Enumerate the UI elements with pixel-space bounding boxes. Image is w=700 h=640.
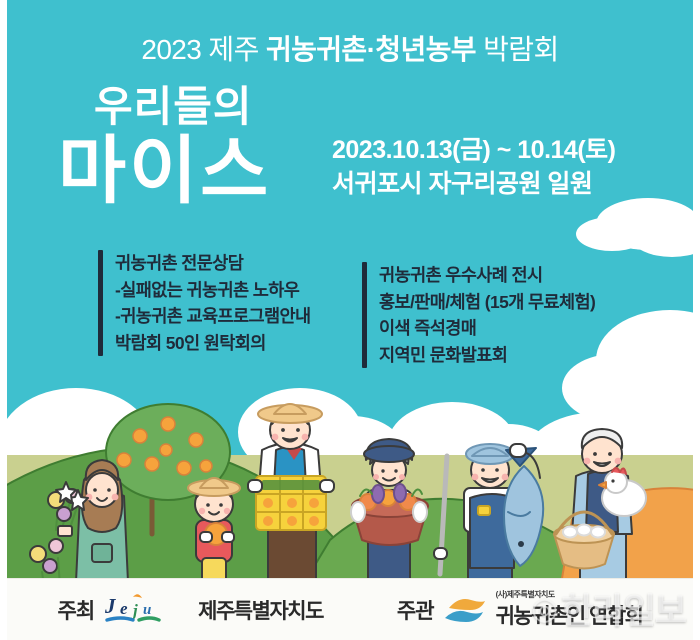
event-place: 서귀포시 자구리공원 일원 bbox=[332, 168, 615, 202]
main-title-line1: 우리들의 bbox=[94, 86, 271, 128]
elder-man-with-chicken bbox=[554, 429, 646, 588]
organizer-name-block: (사)제주특별자치도 귀농귀촌인 연합회 bbox=[496, 589, 643, 630]
organizer-name-small: (사)제주특별자치도 bbox=[496, 589, 643, 600]
info-column-left: 귀농귀촌 전문상담 -실패없는 귀농귀촌 노하우 -귀농귀촌 교육프로그램안내 … bbox=[98, 250, 311, 356]
svg-text:e: e bbox=[120, 599, 128, 618]
farmer-with-crate bbox=[248, 404, 334, 588]
accent-bar-left bbox=[98, 250, 103, 356]
hands-logo-icon bbox=[443, 594, 487, 626]
info-left-lines: 귀농귀촌 전문상담 -실패없는 귀농귀촌 노하우 -귀농귀촌 교육프로그램안내 … bbox=[115, 250, 311, 356]
info-right-lines: 귀농귀촌 우수사례 전시 홍보/판매/체험 (15개 무료체험) 이색 즉석경매… bbox=[379, 262, 595, 368]
header-title-part1: 2023 제주 bbox=[141, 34, 266, 65]
info-right-item: 이색 즉석경매 bbox=[379, 315, 595, 342]
woman-with-flowers bbox=[48, 460, 128, 582]
poster-main-title: 우리들의 마이스 bbox=[58, 86, 271, 208]
info-right-item: 홍보/판매/체험 (15개 무료체험) bbox=[379, 289, 595, 316]
svg-text:J: J bbox=[104, 594, 117, 618]
fisherman-with-fish bbox=[434, 444, 543, 588]
illustration-figures bbox=[0, 348, 700, 598]
header-title-part3: 박람회 bbox=[476, 34, 559, 65]
main-title-line2: 마이스 bbox=[58, 134, 271, 208]
info-left-item: -실패없는 귀농귀촌 노하우 bbox=[115, 277, 311, 304]
cloud-shape bbox=[576, 198, 700, 257]
info-left-item: 박람회 50인 원탁회의 bbox=[115, 330, 311, 357]
event-date: 2023.10.13(금) ~ 10.14(토) bbox=[332, 134, 615, 168]
header-title-part2: 귀농귀촌·청년농부 bbox=[266, 34, 476, 65]
svg-text:u: u bbox=[143, 602, 151, 618]
info-column-right: 귀농귀촌 우수사례 전시 홍보/판매/체험 (15개 무료체험) 이색 즉석경매… bbox=[362, 262, 595, 368]
event-poster: 2023 제주 귀농귀촌·청년농부 박람회 우리들의 마이스 2023.10.1… bbox=[0, 0, 700, 640]
jeju-logo-icon: J e j u bbox=[103, 593, 189, 627]
organizer-label: 주관 bbox=[397, 595, 434, 625]
left-border bbox=[0, 0, 7, 640]
info-right-item: 귀농귀촌 우수사례 전시 bbox=[379, 262, 595, 289]
host-label: 주최 bbox=[58, 595, 95, 625]
poster-header: 2023 제주 귀농귀촌·청년농부 박람회 bbox=[0, 34, 700, 66]
accent-bar-right bbox=[362, 262, 367, 368]
info-left-item: -귀농귀촌 교육프로그램안내 bbox=[115, 303, 311, 330]
organizer-group: 주관 (사)제주특별자치도 귀농귀촌인 연합회 bbox=[397, 589, 643, 630]
vegetable-basket bbox=[351, 484, 428, 545]
svg-text:j: j bbox=[130, 601, 138, 620]
yellow-crate bbox=[256, 476, 326, 530]
host-group: 주최 J e j u 제주특별자치도 bbox=[58, 593, 323, 627]
right-border bbox=[693, 0, 700, 640]
poster-footer: 주최 J e j u 제주특별자치도 주관 bbox=[7, 578, 693, 640]
child-with-tangerine bbox=[188, 478, 240, 588]
host-name: 제주특별자치도 bbox=[198, 595, 323, 625]
info-left-item: 귀농귀촌 전문상담 bbox=[115, 250, 311, 277]
schedule-block: 2023.10.13(금) ~ 10.14(토) 서귀포시 자구리공원 일원 bbox=[332, 134, 615, 202]
elder-woman-with-vegetable-basket bbox=[351, 439, 428, 588]
header-title-line: 2023 제주 귀농귀촌·청년농부 박람회 bbox=[0, 34, 700, 66]
organizer-name: 귀농귀촌인 연합회 bbox=[496, 605, 643, 628]
info-right-item: 지역민 문화발표회 bbox=[379, 342, 595, 369]
